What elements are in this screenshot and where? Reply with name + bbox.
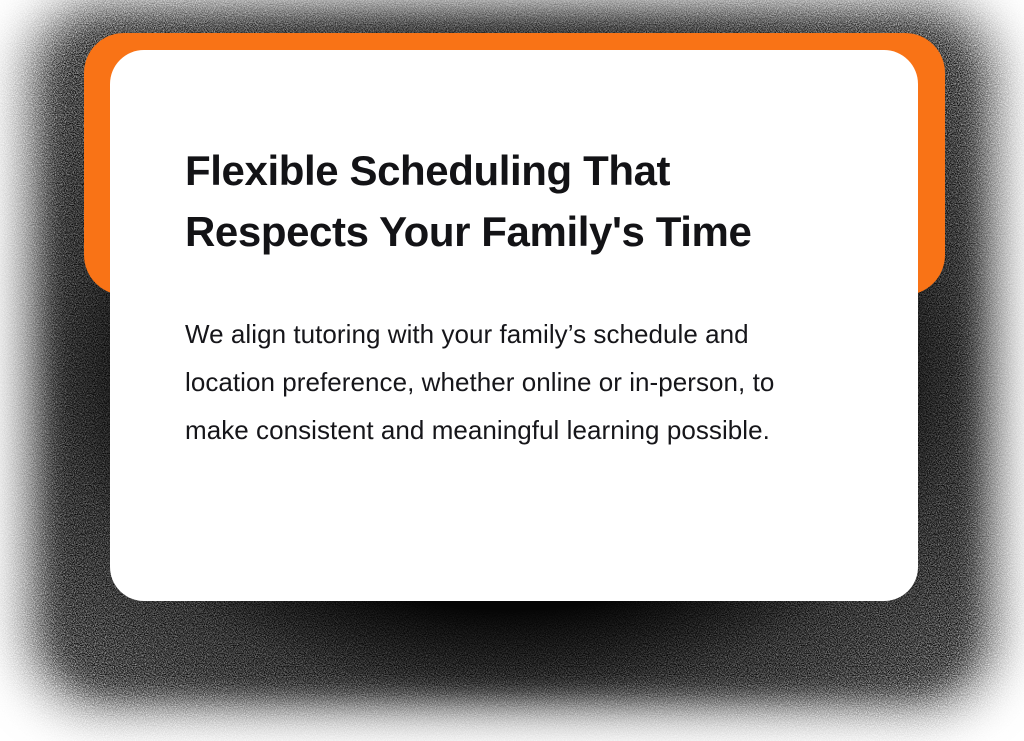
card-content: Flexible Scheduling That Respects Your F… xyxy=(185,140,845,454)
content-card: Flexible Scheduling That Respects Your F… xyxy=(110,50,918,601)
card-heading: Flexible Scheduling That Respects Your F… xyxy=(185,140,845,262)
card-body-text: We align tutoring with your family’s sch… xyxy=(185,262,835,454)
promo-card-scene: Flexible Scheduling That Respects Your F… xyxy=(0,0,1024,741)
